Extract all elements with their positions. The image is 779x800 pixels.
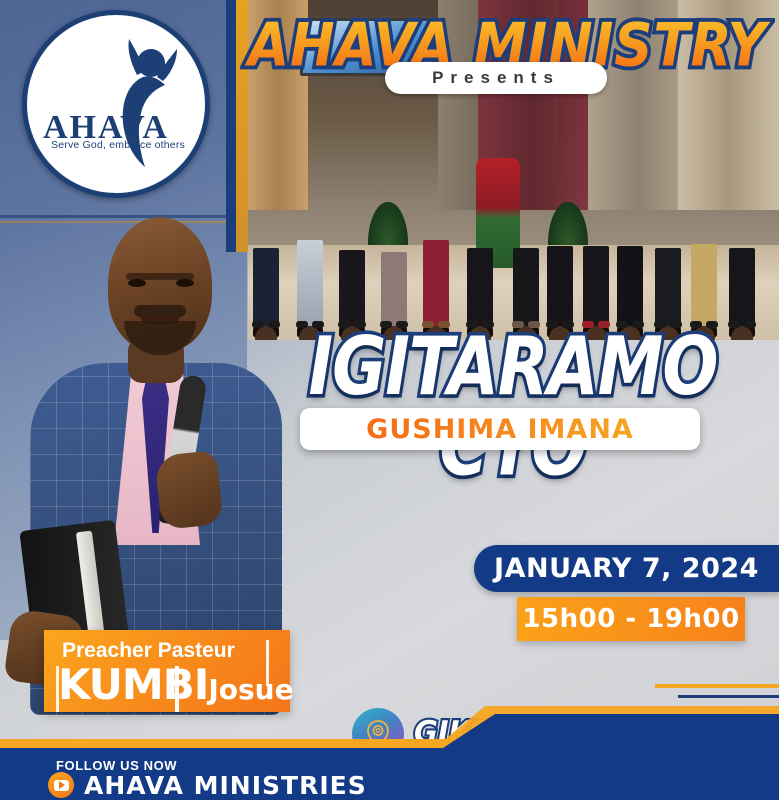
event-date-box: JANUARY 7, 2024 xyxy=(474,545,779,592)
ahava-logo: AHAVA Serve God, embrace others xyxy=(22,10,210,198)
preacher-name-card: Preacher Pasteur KUMBI Josue xyxy=(44,630,290,712)
presents-label: Presents xyxy=(432,68,560,88)
presents-pill: Presents xyxy=(385,62,607,94)
logo-tagline: Serve God, embrace others xyxy=(51,139,201,151)
youtube-play-icon[interactable] xyxy=(48,772,74,798)
event-poster: AHAVA Serve God, embrace others xyxy=(0,0,779,800)
preacher-last-name: KUMBI xyxy=(58,664,208,706)
event-date: JANUARY 7, 2024 xyxy=(494,553,759,584)
decor-rule-navy xyxy=(678,695,779,698)
event-subheadline-box: GUSHIMA IMANA xyxy=(300,408,700,450)
decor-rule-orange xyxy=(655,684,779,688)
face xyxy=(108,217,212,351)
preacher-first-name: Josue xyxy=(208,676,293,704)
hand-holding-mic xyxy=(154,450,223,530)
event-subheadline: GUSHIMA IMANA xyxy=(366,414,634,445)
channel-name[interactable]: AHAVA MINISTRIES xyxy=(84,771,367,800)
event-time: 15h00 - 19h00 xyxy=(522,604,739,634)
event-time-box: 15h00 - 19h00 xyxy=(517,597,745,641)
